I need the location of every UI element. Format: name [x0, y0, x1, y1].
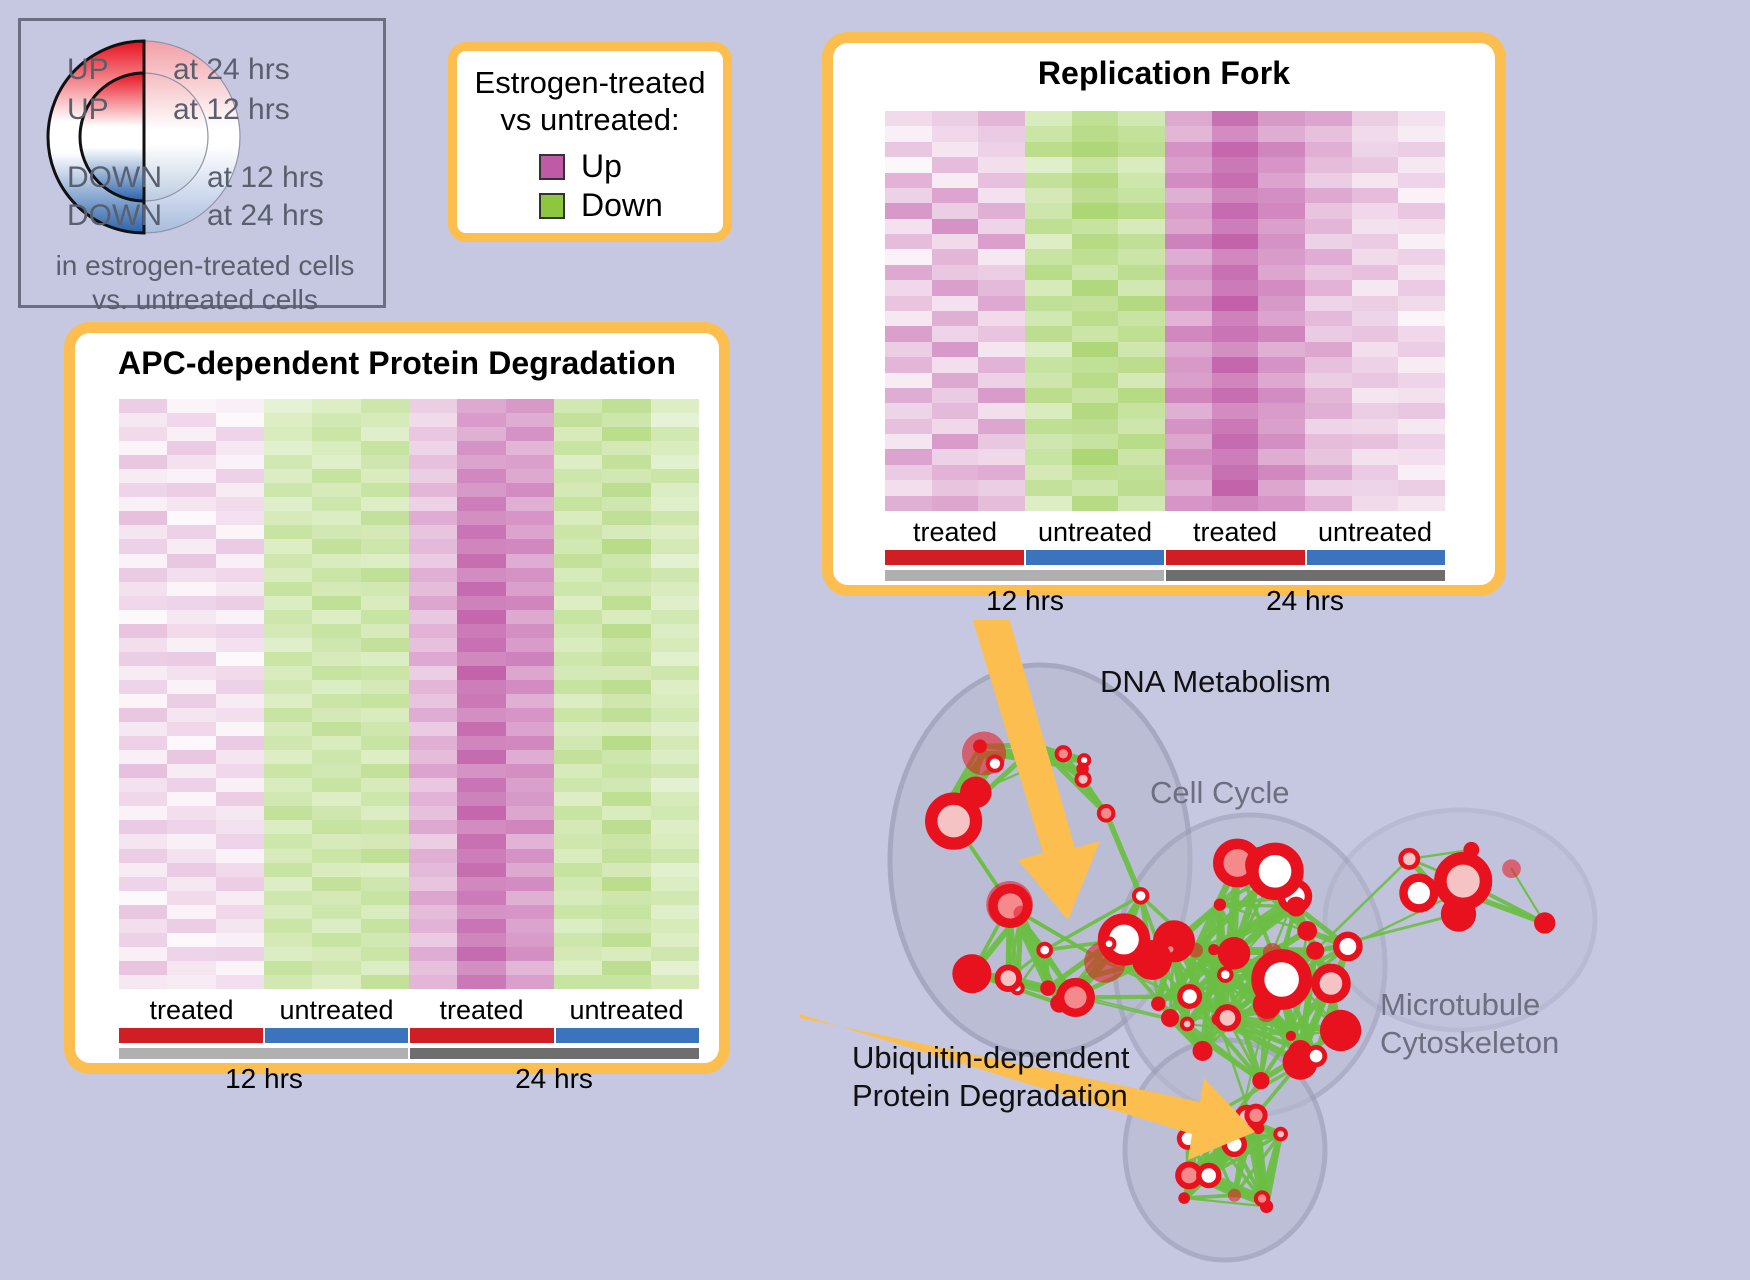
- network-node: [1099, 806, 1114, 821]
- network-node: [1258, 956, 1306, 1004]
- heat-cell: [312, 441, 360, 455]
- heat-cell: [1352, 280, 1399, 295]
- heat-cell: [1212, 126, 1259, 141]
- heat-cell: [554, 891, 602, 905]
- heat-cell: [1398, 142, 1445, 157]
- heat-cell: [167, 863, 215, 877]
- heat-cell: [1305, 480, 1352, 495]
- heat-cell: [409, 610, 457, 624]
- heat-cell: [361, 568, 409, 582]
- heat-cell: [1258, 373, 1305, 388]
- heat-cell: [1305, 296, 1352, 311]
- heat-cell: [1258, 357, 1305, 372]
- heat-cell: [885, 188, 932, 203]
- legend-item-down: Down: [539, 187, 723, 224]
- heat-cell: [409, 764, 457, 778]
- heat-cell: [1398, 219, 1445, 234]
- heat-cell: [978, 188, 1025, 203]
- heat-cell: [1305, 449, 1352, 464]
- heat-cell: [1305, 326, 1352, 341]
- heat-cell: [216, 849, 264, 863]
- heat-cell: [312, 933, 360, 947]
- heat-cell: [978, 403, 1025, 418]
- heat-cell: [409, 525, 457, 539]
- heat-cell: [602, 427, 650, 441]
- sample-group-bar: [1026, 550, 1167, 565]
- heat-cell: [1398, 496, 1445, 511]
- network-node: [1219, 968, 1232, 981]
- heat-cell: [361, 933, 409, 947]
- heat-cell: [216, 905, 264, 919]
- heat-cell: [602, 750, 650, 764]
- heat-cell: [651, 455, 699, 469]
- heat-cell: [457, 666, 505, 680]
- heat-cell: [264, 891, 312, 905]
- heat-cell: [1025, 219, 1072, 234]
- heat-cell: [312, 919, 360, 933]
- heat-cell: [651, 427, 699, 441]
- heat-cell: [602, 933, 650, 947]
- heat-cell: [119, 834, 167, 848]
- heat-cell: [554, 778, 602, 792]
- network-node: [1502, 859, 1521, 878]
- heat-cell: [554, 877, 602, 891]
- heat-cell: [506, 863, 554, 877]
- heat-cell: [1212, 388, 1259, 403]
- heat-cell: [1305, 126, 1352, 141]
- heat-cell: [651, 568, 699, 582]
- heat-cell: [932, 219, 979, 234]
- heat-cell: [602, 413, 650, 427]
- heat-cell: [457, 863, 505, 877]
- heat-cell: [932, 296, 979, 311]
- network-node: [1403, 878, 1434, 909]
- heat-cell: [1352, 203, 1399, 218]
- heat-cell: [554, 638, 602, 652]
- heat-cell: [361, 764, 409, 778]
- network-node: [1297, 921, 1317, 941]
- network-node: [1218, 937, 1251, 970]
- heat-cell: [167, 736, 215, 750]
- network-node: [1252, 1122, 1264, 1134]
- heat-cell: [885, 265, 932, 280]
- heat-cell: [1072, 234, 1119, 249]
- heat-cell: [602, 525, 650, 539]
- timepoint-bar: [410, 1048, 699, 1059]
- heat-cell: [1118, 357, 1165, 372]
- heat-cell: [457, 905, 505, 919]
- heat-cell: [167, 708, 215, 722]
- heat-cell: [554, 624, 602, 638]
- heat-cell: [216, 455, 264, 469]
- heat-cell: [361, 750, 409, 764]
- heat-cell: [1165, 265, 1212, 280]
- rf-time-names: 12 hrs24 hrs: [885, 585, 1445, 617]
- heat-cell: [506, 820, 554, 834]
- heat-cell: [312, 638, 360, 652]
- heat-cell: [1072, 496, 1119, 511]
- heat-cell: [506, 764, 554, 778]
- heat-cell: [409, 652, 457, 666]
- heat-cell: [885, 419, 932, 434]
- heat-cell: [167, 610, 215, 624]
- heat-cell: [651, 961, 699, 975]
- heat-cell: [1305, 419, 1352, 434]
- legend-row-0-time: at 24 hrs: [173, 53, 290, 87]
- heat-cell: [978, 434, 1025, 449]
- heat-cell: [312, 877, 360, 891]
- heat-cell: [651, 891, 699, 905]
- sample-group-bar: [885, 550, 1026, 565]
- heat-cell: [602, 455, 650, 469]
- heat-cell: [506, 596, 554, 610]
- heat-cell: [361, 582, 409, 596]
- heat-cell: [1165, 434, 1212, 449]
- heat-cell: [119, 525, 167, 539]
- heat-cell: [651, 539, 699, 553]
- heat-cell: [651, 638, 699, 652]
- heat-cell: [216, 652, 264, 666]
- heat-cell: [1025, 480, 1072, 495]
- heat-cell: [602, 975, 650, 989]
- heat-cell: [651, 820, 699, 834]
- cluster-label-microtubule-line1: Microtubule: [1380, 987, 1540, 1022]
- heat-cell: [932, 342, 979, 357]
- heat-cell: [602, 863, 650, 877]
- heat-cell: [312, 596, 360, 610]
- heat-cell: [651, 877, 699, 891]
- heat-cell: [409, 511, 457, 525]
- heat-cell: [264, 610, 312, 624]
- heat-cell: [932, 434, 979, 449]
- heat-cell: [1212, 326, 1259, 341]
- heat-cell: [264, 736, 312, 750]
- heat-cell: [602, 736, 650, 750]
- heat-cell: [602, 778, 650, 792]
- heat-cell: [932, 280, 979, 295]
- heat-cell: [1025, 357, 1072, 372]
- heat-cell: [1072, 357, 1119, 372]
- heat-cell: [409, 680, 457, 694]
- heat-cell: [1305, 188, 1352, 203]
- heat-cell: [651, 750, 699, 764]
- heat-cell: [264, 694, 312, 708]
- heat-cell: [1165, 449, 1212, 464]
- legend-row-2-time: at 12 hrs: [207, 161, 324, 195]
- heat-cell: [409, 399, 457, 413]
- heat-cell: [506, 497, 554, 511]
- heat-cell: [361, 891, 409, 905]
- network-node: [1076, 763, 1088, 775]
- heat-cell: [602, 680, 650, 694]
- heat-cell: [602, 638, 650, 652]
- heat-cell: [1352, 388, 1399, 403]
- heat-cell: [885, 480, 932, 495]
- heat-cell: [1072, 480, 1119, 495]
- heat-cell: [409, 539, 457, 553]
- heat-cell: [361, 539, 409, 553]
- heat-cell: [506, 624, 554, 638]
- heat-cell: [932, 419, 979, 434]
- heat-cell: [1165, 203, 1212, 218]
- heat-cell: [312, 792, 360, 806]
- heat-cell: [1258, 219, 1305, 234]
- heat-cell: [1258, 465, 1305, 480]
- heat-cell: [651, 849, 699, 863]
- heat-cell: [506, 961, 554, 975]
- heat-cell: [1352, 126, 1399, 141]
- heat-cell: [554, 455, 602, 469]
- heat-cell: [602, 610, 650, 624]
- heat-cell: [264, 877, 312, 891]
- heat-cell: [312, 806, 360, 820]
- heat-cell: [978, 142, 1025, 157]
- network-node: [1307, 1047, 1324, 1064]
- heat-cell: [651, 483, 699, 497]
- heat-cell: [457, 399, 505, 413]
- heat-cell: [457, 652, 505, 666]
- heat-cell: [167, 764, 215, 778]
- heat-cell: [1025, 311, 1072, 326]
- heat-cell: [119, 975, 167, 989]
- heat-cell: [932, 126, 979, 141]
- network-node: [1306, 942, 1324, 960]
- heat-cell: [457, 877, 505, 891]
- heat-cell: [1352, 357, 1399, 372]
- heat-cell: [409, 554, 457, 568]
- heat-cell: [457, 469, 505, 483]
- heat-cell: [554, 399, 602, 413]
- heat-cell: [1165, 326, 1212, 341]
- heat-cell: [457, 778, 505, 792]
- heat-cell: [602, 877, 650, 891]
- heat-cell: [216, 413, 264, 427]
- heat-cell: [1305, 465, 1352, 480]
- heat-cell: [1118, 157, 1165, 172]
- heat-cell: [1398, 388, 1445, 403]
- heat-cell: [978, 280, 1025, 295]
- heat-cell: [1398, 434, 1445, 449]
- heat-cell: [119, 413, 167, 427]
- heat-cell: [216, 891, 264, 905]
- heat-cell: [264, 680, 312, 694]
- heat-cell: [885, 280, 932, 295]
- heat-cell: [312, 511, 360, 525]
- heat-cell: [167, 624, 215, 638]
- heat-cell: [1118, 403, 1165, 418]
- heat-cell: [885, 357, 932, 372]
- heat-cell: [167, 554, 215, 568]
- heat-cell: [216, 525, 264, 539]
- heat-cell: [1025, 111, 1072, 126]
- heat-cell: [1305, 373, 1352, 388]
- heat-cell: [361, 961, 409, 975]
- heat-cell: [216, 877, 264, 891]
- heat-cell: [885, 249, 932, 264]
- heat-cell: [506, 582, 554, 596]
- heat-cell: [651, 778, 699, 792]
- heat-cell: [312, 539, 360, 553]
- heat-cell: [1118, 419, 1165, 434]
- heat-cell: [1258, 326, 1305, 341]
- heat-cell: [1305, 357, 1352, 372]
- heat-cell: [457, 764, 505, 778]
- heat-cell: [1025, 342, 1072, 357]
- heat-cell: [312, 947, 360, 961]
- heat-cell: [264, 399, 312, 413]
- heat-cell: [932, 188, 979, 203]
- network-node: [1180, 987, 1200, 1007]
- heat-cell: [409, 694, 457, 708]
- heat-cell: [1165, 142, 1212, 157]
- heat-cell: [1025, 203, 1072, 218]
- cluster-label-dna-metabolism: DNA Metabolism: [1100, 664, 1331, 699]
- heat-cell: [1258, 296, 1305, 311]
- heat-cell: [457, 849, 505, 863]
- heat-cell: [1212, 434, 1259, 449]
- heat-cell: [312, 652, 360, 666]
- heat-cell: [119, 554, 167, 568]
- heat-cell: [216, 680, 264, 694]
- heat-cell: [457, 568, 505, 582]
- network-node: [1013, 906, 1028, 921]
- heat-cell: [978, 111, 1025, 126]
- heat-cell: [978, 203, 1025, 218]
- heat-cell: [602, 441, 650, 455]
- heat-cell: [1212, 280, 1259, 295]
- heat-cell: [885, 342, 932, 357]
- heat-cell: [1025, 465, 1072, 480]
- heat-cell: [1398, 188, 1445, 203]
- heat-cell: [409, 877, 457, 891]
- heat-cell: [885, 142, 932, 157]
- heat-cell: [1165, 234, 1212, 249]
- heat-cell: [119, 905, 167, 919]
- heat-cell: [361, 427, 409, 441]
- heat-cell: [554, 666, 602, 680]
- heat-cell: [1398, 173, 1445, 188]
- heat-cell: [167, 539, 215, 553]
- heat-cell: [216, 554, 264, 568]
- heat-cell: [1212, 373, 1259, 388]
- heat-cell: [1072, 342, 1119, 357]
- sample-group-label: untreated: [1305, 517, 1445, 548]
- heat-cell: [1398, 403, 1445, 418]
- heat-cell: [506, 708, 554, 722]
- apc-time-names: 12 hrs24 hrs: [119, 1063, 699, 1095]
- network-node: [1286, 1031, 1296, 1041]
- heat-cell: [651, 905, 699, 919]
- heat-cell: [932, 480, 979, 495]
- heat-cell: [119, 497, 167, 511]
- heat-cell: [312, 610, 360, 624]
- heat-cell: [216, 483, 264, 497]
- network-node: [1320, 1010, 1361, 1051]
- network-node: [998, 967, 1020, 989]
- heat-cell: [602, 961, 650, 975]
- heat-cell: [1165, 388, 1212, 403]
- heat-cell: [1025, 403, 1072, 418]
- heat-cell: [506, 919, 554, 933]
- heat-cell: [312, 764, 360, 778]
- heat-cell: [1118, 142, 1165, 157]
- heat-cell: [409, 708, 457, 722]
- heat-cell: [1165, 373, 1212, 388]
- heat-cell: [409, 666, 457, 680]
- heat-cell: [1118, 296, 1165, 311]
- heat-cell: [1212, 342, 1259, 357]
- heat-cell: [602, 694, 650, 708]
- heat-cell: [1258, 496, 1305, 511]
- heat-cell: [1165, 296, 1212, 311]
- heat-cell: [167, 666, 215, 680]
- down-color-swatch: [539, 193, 565, 219]
- heat-cell: [119, 947, 167, 961]
- updown-legend-title-line2: vs untreated:: [457, 102, 723, 139]
- heat-cell: [409, 778, 457, 792]
- heat-cell: [361, 834, 409, 848]
- sample-group-label: treated: [119, 995, 264, 1026]
- heat-cell: [554, 863, 602, 877]
- heat-cell: [361, 413, 409, 427]
- heat-cell: [216, 539, 264, 553]
- heat-cell: [1305, 342, 1352, 357]
- heat-cell: [1025, 173, 1072, 188]
- heat-cell: [506, 905, 554, 919]
- legend-row-1-word: UP: [67, 93, 109, 127]
- heat-cell: [885, 203, 932, 218]
- heat-cell: [1165, 311, 1212, 326]
- heat-cell: [1118, 342, 1165, 357]
- heat-cell: [119, 750, 167, 764]
- heat-cell: [167, 680, 215, 694]
- heat-cell: [264, 596, 312, 610]
- heat-cell: [1072, 111, 1119, 126]
- heat-cell: [312, 722, 360, 736]
- heat-cell: [554, 511, 602, 525]
- heat-cell: [361, 975, 409, 989]
- heat-cell: [651, 947, 699, 961]
- heat-cell: [1212, 403, 1259, 418]
- heat-cell: [1025, 419, 1072, 434]
- sample-group-bar: [265, 1028, 411, 1043]
- apc-axis: treateduntreatedtreateduntreated 12 hrs2…: [119, 995, 699, 1095]
- heat-cell: [409, 947, 457, 961]
- heat-cell: [457, 736, 505, 750]
- heat-cell: [457, 511, 505, 525]
- heat-cell: [1165, 403, 1212, 418]
- heat-cell: [885, 157, 932, 172]
- heat-cell: [932, 234, 979, 249]
- heat-cell: [651, 919, 699, 933]
- heat-cell: [1118, 126, 1165, 141]
- heat-cell: [978, 373, 1025, 388]
- sample-group-bar: [1166, 550, 1307, 565]
- network-node: [1038, 944, 1051, 957]
- heat-cell: [506, 511, 554, 525]
- heat-cell: [1258, 265, 1305, 280]
- heat-cell: [1165, 465, 1212, 480]
- heat-cell: [361, 806, 409, 820]
- heat-cell: [651, 511, 699, 525]
- heat-cell: [457, 694, 505, 708]
- heat-cell: [1398, 157, 1445, 172]
- network-node: [1286, 897, 1306, 917]
- heat-cell: [361, 399, 409, 413]
- heat-cell: [885, 219, 932, 234]
- heat-cell: [119, 961, 167, 975]
- legend-caption-line1: in estrogen-treated cells: [21, 249, 389, 283]
